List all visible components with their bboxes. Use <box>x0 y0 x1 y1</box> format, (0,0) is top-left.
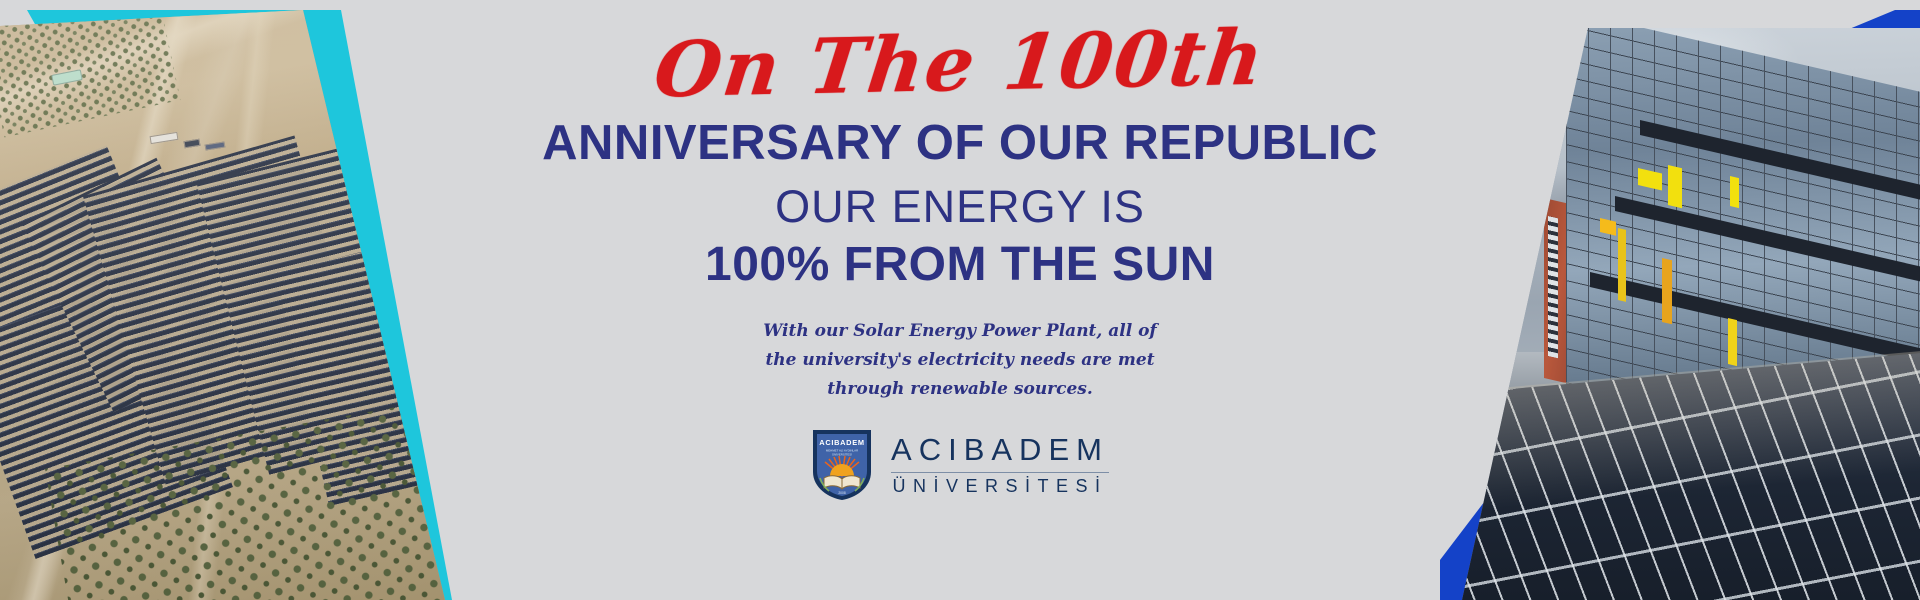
yellow-accent-panel <box>1618 228 1626 302</box>
logo-wordmark-bottom: ÜNİVERSİTESİ <box>891 477 1109 496</box>
yellow-accent-panel <box>1662 258 1672 324</box>
acibadem-university-logo: ACIBADEM MEHMET ALİ AYDINLAR ÜNİVERSİTES… <box>811 428 1109 502</box>
headline-line-from-the-sun: 100% FROM THE SUN <box>705 239 1215 292</box>
right-campus-photo <box>1440 0 1920 600</box>
banner-root: On The 100th ANNIVERSARY OF OUR REPUBLIC… <box>0 0 1920 600</box>
logo-wordmark-top: ACIBADEM <box>891 434 1109 471</box>
svg-text:ACIBADEM: ACIBADEM <box>819 438 864 447</box>
subtext-paragraph: With our Solar Energy Power Plant, all o… <box>745 317 1175 404</box>
script-headline: On The 100th <box>651 20 1269 109</box>
yellow-accent-panel <box>1668 165 1682 208</box>
yellow-accent-panel <box>1730 176 1739 208</box>
center-content: On The 100th ANNIVERSARY OF OUR REPUBLIC… <box>470 0 1450 600</box>
svg-text:ÜNİVERSİTESİ: ÜNİVERSİTESİ <box>832 452 852 457</box>
headline-line-our-energy: OUR ENERGY IS <box>775 183 1145 230</box>
brick-tower-windows <box>1548 216 1558 358</box>
logo-wordmark: ACIBADEM ÜNİVERSİTESİ <box>891 434 1109 496</box>
svg-text:2008: 2008 <box>838 491 846 495</box>
yellow-accent-panel <box>1728 318 1737 366</box>
university-crest-icon: ACIBADEM MEHMET ALİ AYDINLAR ÜNİVERSİTES… <box>811 428 873 502</box>
headline-line-anniversary: ANNIVERSARY OF OUR REPUBLIC <box>542 118 1378 169</box>
logo-wordmark-divider <box>891 472 1109 473</box>
